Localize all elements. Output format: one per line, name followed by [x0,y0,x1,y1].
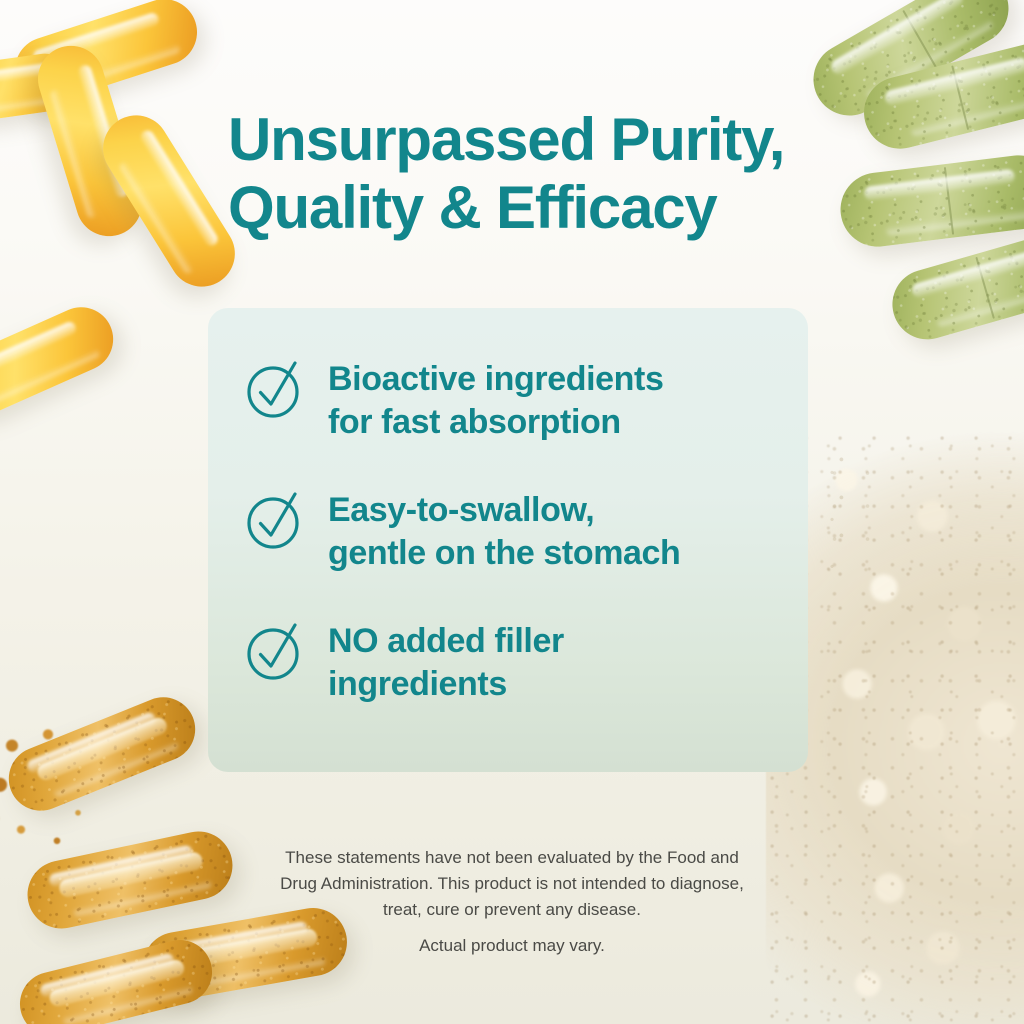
check-circle-icon [244,358,306,420]
headline-line-2: Quality & Efficacy [228,174,818,242]
list-item: NO added filler ingredients [244,618,784,705]
benefit-line-1: NO added filler [328,620,564,663]
check-circle-icon [244,489,306,551]
benefit-line-1: Bioactive ingredients [328,358,663,401]
product-variation-note: Actual product may vary. [212,933,812,959]
check-circle-icon [244,620,306,682]
disclaimer-line-3: treat, cure or prevent any disease. [212,897,812,923]
disclaimer-line-2: Drug Administration. This product is not… [212,871,812,897]
disclaimer-line-1: These statements have not been evaluated… [212,845,812,871]
benefit-line-2: ingredients [328,663,564,706]
list-item: Easy-to-swallow, gentle on the stomach [244,487,784,574]
promo-image-canvas: Unsurpassed Purity, Quality & Efficacy B… [0,0,1024,1024]
benefit-line-1: Easy-to-swallow, [328,489,680,532]
benefit-text: Easy-to-swallow, gentle on the stomach [328,487,680,574]
benefit-text: NO added filler ingredients [328,618,564,705]
benefit-list: Bioactive ingredients for fast absorptio… [244,356,784,705]
benefit-line-2: gentle on the stomach [328,532,680,575]
fda-disclaimer: These statements have not been evaluated… [212,845,812,923]
benefit-line-2: for fast absorption [328,401,663,444]
benefit-text: Bioactive ingredients for fast absorptio… [328,356,663,443]
benefits-card: Bioactive ingredients for fast absorptio… [208,308,808,772]
headline-line-1: Unsurpassed Purity, [228,106,818,174]
list-item: Bioactive ingredients for fast absorptio… [244,356,784,443]
promo-content: Unsurpassed Purity, Quality & Efficacy B… [0,0,1024,1024]
page-title: Unsurpassed Purity, Quality & Efficacy [228,106,818,242]
